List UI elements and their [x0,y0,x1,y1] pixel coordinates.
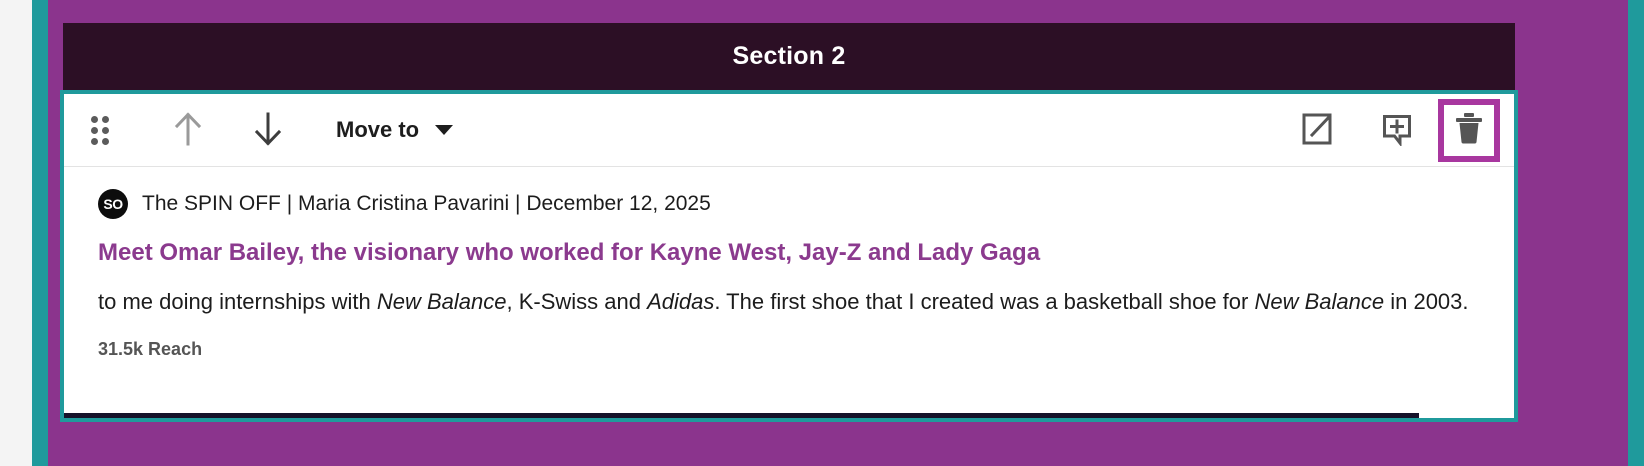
article-excerpt: to me doing internships with New Balance… [98,286,1484,317]
trash-icon [1454,111,1484,150]
move-up-button[interactable] [162,104,214,156]
content-card: Move to [60,90,1518,422]
byline-row: SO The SPIN OFF | Maria Cristina Pavarin… [98,189,1484,219]
byline-text: The SPIN OFF | Maria Cristina Pavarini |… [142,192,711,216]
dot-grid [91,116,109,145]
open-external-button[interactable] [1292,104,1344,156]
screenshot-root: Section 2 [0,0,1644,466]
card-toolbar: Move to [64,94,1514,167]
add-comment-button[interactable] [1372,104,1424,156]
drag-handle-icon[interactable] [80,110,120,150]
move-down-button[interactable] [242,104,294,156]
avatar: SO [98,189,128,219]
chevron-down-icon [435,125,453,135]
bottom-divider [64,413,1419,418]
article-body: SO The SPIN OFF | Maria Cristina Pavarin… [64,167,1514,360]
move-to-dropdown[interactable]: Move to [330,113,459,147]
move-to-label: Move to [336,117,419,143]
section-header: Section 2 [63,23,1515,90]
delete-button[interactable] [1438,99,1500,162]
section-title: Section 2 [733,42,846,71]
arrow-down-icon [251,110,285,151]
article-headline[interactable]: Meet Omar Bailey, the visionary who work… [98,239,1484,268]
reach-stat: 31.5k Reach [98,339,1484,360]
arrow-up-icon [171,110,205,151]
add-comment-icon [1381,112,1415,149]
external-link-icon [1301,112,1335,149]
